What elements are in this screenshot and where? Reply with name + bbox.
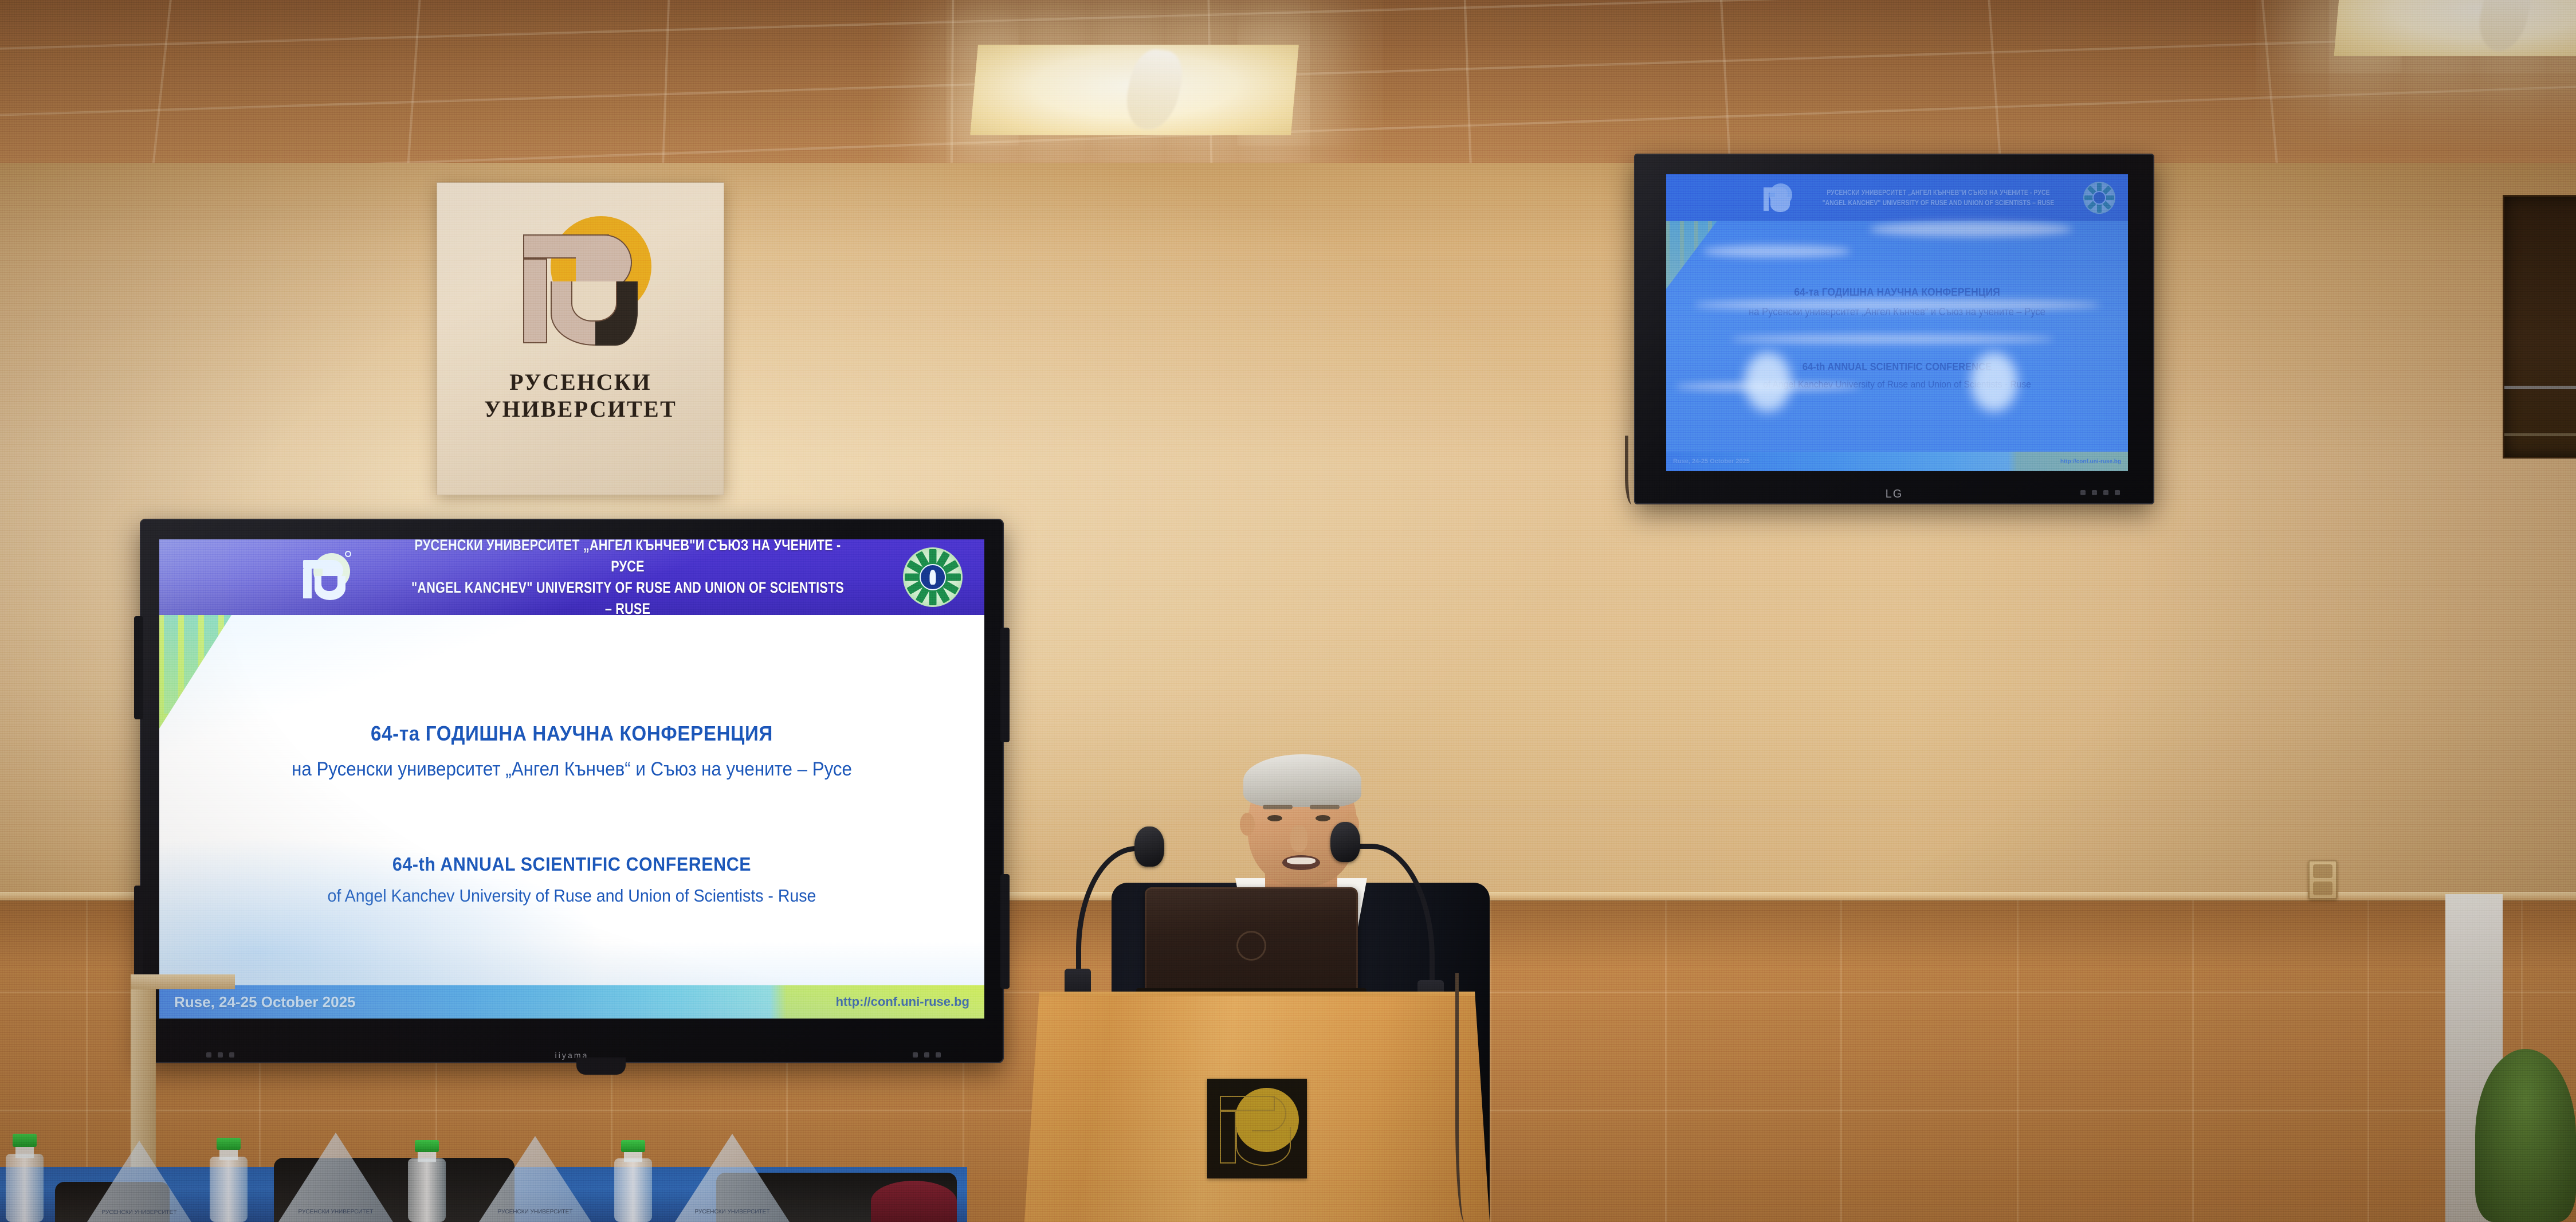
wall-tv-control-keys[interactable] bbox=[2080, 490, 2120, 495]
wall-tv-header-ru-logo bbox=[1760, 181, 1793, 214]
wall-tv-brand-label: LG bbox=[1886, 488, 1903, 501]
wall-mounted-tv[interactable]: РУСЕНСКИ УНИВЕРСИТЕТ „АНГЕЛ КЪНЧЕВ"И СЪЮ… bbox=[1634, 154, 2154, 504]
presenter-laptop[interactable] bbox=[1145, 887, 1358, 992]
ceiling bbox=[0, 0, 2576, 172]
wall-tv-title-block-en: 64-th ANNUAL SCIENTIFIC CONFERENCE of An… bbox=[1666, 361, 2128, 390]
display-control-keys-left[interactable] bbox=[206, 1052, 234, 1057]
logo-p-stem bbox=[523, 258, 547, 343]
display-stand-arm bbox=[131, 974, 235, 989]
podium-logo-plaque bbox=[1207, 1079, 1307, 1178]
name-plate-text: РУСЕНСКИ УНИВЕРСИТЕТ bbox=[102, 1209, 177, 1216]
speaker-brow-left bbox=[1263, 805, 1293, 809]
ceiling-light-panel-center bbox=[970, 45, 1299, 135]
hp-logo-icon bbox=[1236, 931, 1266, 961]
wall-sign-line-1: РУСЕНСКИ bbox=[484, 369, 677, 395]
water-bottle-2[interactable] bbox=[210, 1138, 248, 1222]
speaker-teeth bbox=[1287, 857, 1316, 864]
display-handle-left bbox=[134, 616, 143, 719]
presentation-slide: РУСЕНСКИ УНИВЕРСИТЕТ „АНГЕЛ КЪНЧЕВ"И СЪЮ… bbox=[159, 539, 984, 1019]
display-control-keys-right[interactable] bbox=[913, 1052, 941, 1057]
wall-tv-header-bg-line: РУСЕНСКИ УНИВЕРСИТЕТ „АНГЕЛ КЪНЧЕВ"И СЪЮ… bbox=[1823, 187, 2055, 198]
microphone-left[interactable] bbox=[1076, 846, 1162, 995]
logo-u-inner-cut bbox=[571, 281, 617, 322]
main-interactive-display[interactable]: РУСЕНСКИ УНИВЕРСИТЕТ „АНГЕЛ КЪНЧЕВ"И СЪЮ… bbox=[140, 519, 1004, 1063]
plaque-p-stem bbox=[1220, 1111, 1236, 1164]
microphone-left-capsule bbox=[1134, 827, 1164, 867]
speaker-hair bbox=[1243, 754, 1361, 807]
slide-header-bg-line: РУСЕНСКИ УНИВЕРСИТЕТ „АНГЕЛ КЪНЧЕВ"И СЪЮ… bbox=[407, 539, 848, 577]
wall-tv-bg-subtitle: на Русенски университет „Ангел Кънчев“ и… bbox=[1684, 306, 2110, 318]
wall-sign-university: РУСЕНСКИ УНИВЕРСИТЕТ bbox=[437, 182, 724, 495]
wall-sign-line-2: УНИВЕРСИТЕТ bbox=[484, 395, 677, 422]
wall-tv-footer-band: Ruse, 24-25 October 2025 http://conf.uni… bbox=[1666, 452, 2128, 471]
slide-bg-subtitle: на Русенски университет „Ангел Кънчев“ и… bbox=[193, 758, 952, 781]
union-of-scientists-emblem bbox=[903, 547, 963, 607]
display-wall-mount-nub bbox=[576, 1057, 626, 1075]
wall-tv-cable bbox=[1625, 436, 1642, 504]
wall-tv-union-emblem bbox=[2083, 182, 2115, 214]
water-bottle-1[interactable] bbox=[6, 1135, 44, 1222]
power-outlet bbox=[2308, 860, 2338, 900]
name-plate-text: РУСЕНСКИ УНИВЕРСИТЕТ bbox=[498, 1209, 573, 1215]
slide-header-ru-logo bbox=[297, 550, 352, 605]
bottle-cap-icon bbox=[217, 1138, 241, 1150]
lectern-podium bbox=[1024, 992, 1490, 1222]
microphone-right-capsule bbox=[1330, 822, 1360, 862]
wall-tv-header-text: РУСЕНСКИ УНИВЕРСИТЕТ „АНГЕЛ КЪНЧЕВ"И СЪЮ… bbox=[1823, 187, 2055, 208]
person-head-foreground bbox=[871, 1181, 957, 1222]
main-display-screen[interactable]: РУСЕНСКИ УНИВЕРСИТЕТ „АНГЕЛ КЪНЧЕВ"И СЪЮ… bbox=[159, 539, 984, 1019]
slide-header-text: РУСЕНСКИ УНИВЕРСИТЕТ „АНГЕЛ КЪНЧЕВ"И СЪЮ… bbox=[407, 539, 848, 620]
slide-footer-url: http://conf.uni-ruse.bg bbox=[836, 994, 969, 1009]
conference-hall-photo: РУСЕНСКИ УНИВЕРСИТЕТ bbox=[0, 0, 2576, 1222]
wall-tv-header-band: РУСЕНСКИ УНИВЕРСИТЕТ „АНГЕЛ КЪНЧЕВ"И СЪЮ… bbox=[1666, 174, 2128, 221]
wall-tv-footer-date: Ruse, 24-25 October 2025 bbox=[1673, 458, 1750, 465]
bottle-cap-icon bbox=[13, 1134, 37, 1147]
slide-bg-title: 64-та ГОДИШНА НАУЧНА КОНФЕРЕНЦИЯ bbox=[193, 722, 952, 746]
bottle-cap-icon bbox=[621, 1140, 645, 1152]
slide-header-en-line: "ANGEL KANCHEV" UNIVERSITY OF RUSE AND U… bbox=[407, 577, 848, 620]
speaker-eye-left bbox=[1267, 815, 1282, 821]
microphone-right[interactable] bbox=[1344, 844, 1435, 1008]
slide-header-band: РУСЕНСКИ УНИВЕРСИТЕТ „АНГЕЛ КЪНЧЕВ"И СЪЮ… bbox=[159, 539, 984, 615]
name-plate-text: РУСЕНСКИ УНИВЕРСИТЕТ bbox=[695, 1209, 770, 1215]
potted-plant-right bbox=[2475, 1049, 2576, 1222]
slide-title-block-en: 64-th ANNUAL SCIENTIFIC CONFERENCE of An… bbox=[159, 853, 984, 906]
wall-tv-slide: РУСЕНСКИ УНИВЕРСИТЕТ „АНГЕЛ КЪНЧЕВ"И СЪЮ… bbox=[1666, 174, 2128, 471]
slide-en-subtitle: of Angel Kanchev University of Ruse and … bbox=[193, 886, 952, 906]
plaque-u-shape bbox=[1236, 1127, 1291, 1166]
display-handle-right bbox=[1000, 628, 1010, 742]
speaker-nose bbox=[1290, 825, 1307, 852]
ceiling-light-panel-right bbox=[2334, 0, 2576, 56]
wall-tv-header-en-line: "ANGEL KANCHEV" UNIVERSITY OF RUSE AND U… bbox=[1823, 198, 2055, 208]
slide-footer-date: Ruse, 24-25 October 2025 bbox=[174, 993, 356, 1011]
speaker-brow-right bbox=[1310, 805, 1340, 809]
speaker-eye-right bbox=[1316, 815, 1330, 821]
microphone-cable bbox=[1455, 973, 1478, 1222]
recessed-window bbox=[2503, 195, 2576, 459]
plaque-p-bowl bbox=[1252, 1096, 1286, 1131]
name-plate-text: РУСЕНСКИ УНИВЕРСИТЕТ bbox=[299, 1209, 374, 1215]
display-handle-right-2 bbox=[1000, 874, 1010, 989]
slide-footer-band: Ruse, 24-25 October 2025 http://conf.uni… bbox=[159, 985, 984, 1019]
water-bottle-3[interactable] bbox=[408, 1141, 446, 1222]
wall-tv-footer-url: http://conf.uni-ruse.bg bbox=[2060, 459, 2121, 465]
water-bottle-4[interactable] bbox=[614, 1141, 652, 1222]
wall-tv-bg-title: 64-та ГОДИШНА НАУЧНА КОНФЕРЕНЦИЯ bbox=[1684, 287, 2110, 299]
bottle-cap-icon bbox=[415, 1140, 439, 1152]
ru-university-logo bbox=[506, 209, 655, 358]
display-handle-left-2 bbox=[134, 886, 143, 989]
wall-tv-screen[interactable]: РУСЕНСКИ УНИВЕРСИТЕТ „АНГЕЛ КЪНЧЕВ"И СЪЮ… bbox=[1666, 174, 2128, 471]
wall-tv-title-block-bg: 64-та ГОДИШНА НАУЧНА КОНФЕРЕНЦИЯ на Русе… bbox=[1666, 287, 2128, 318]
slide-title-block-bg: 64-та ГОДИШНА НАУЧНА КОНФЕРЕНЦИЯ на Русе… bbox=[159, 722, 984, 781]
slide-en-title: 64-th ANNUAL SCIENTIFIC CONFERENCE bbox=[193, 853, 952, 875]
wall-sign-text: РУСЕНСКИ УНИВЕРСИТЕТ bbox=[484, 369, 677, 422]
speaker-ear-left bbox=[1240, 813, 1255, 836]
